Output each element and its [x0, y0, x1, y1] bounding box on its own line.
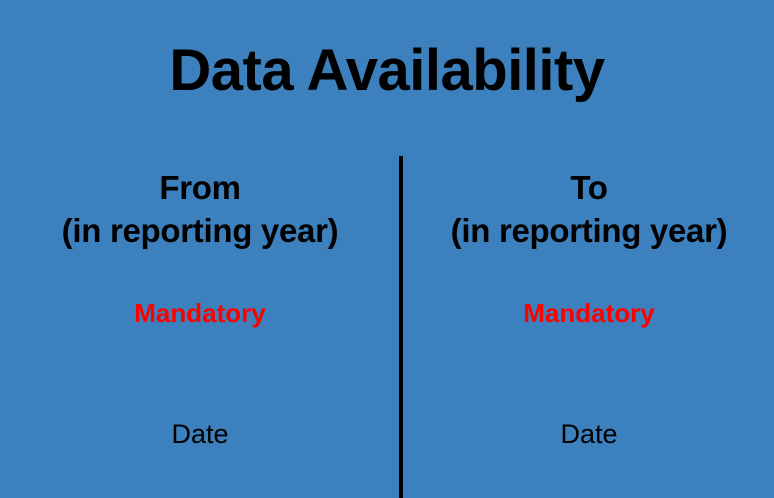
column-to-header-line2: (in reporting year) — [394, 209, 774, 252]
column-from-header-line2: (in reporting year) — [5, 209, 395, 252]
column-from-header: From (in reporting year) — [5, 166, 395, 252]
column-to-header: To (in reporting year) — [394, 166, 774, 252]
column-from: From (in reporting year) Mandatory Date — [5, 160, 395, 498]
page-title: Data Availability — [0, 38, 774, 104]
column-from-requirement-badge: Mandatory — [5, 298, 395, 328]
column-to-header-line1: To — [570, 169, 607, 206]
column-from-field-type: Date — [5, 418, 395, 450]
slide-canvas: Data Availability From (in reporting yea… — [0, 0, 774, 498]
column-to: To (in reporting year) Mandatory Date — [394, 160, 774, 498]
column-to-requirement-badge: Mandatory — [394, 298, 774, 328]
column-to-field-type: Date — [394, 418, 774, 450]
column-from-header-line1: From — [159, 169, 240, 206]
